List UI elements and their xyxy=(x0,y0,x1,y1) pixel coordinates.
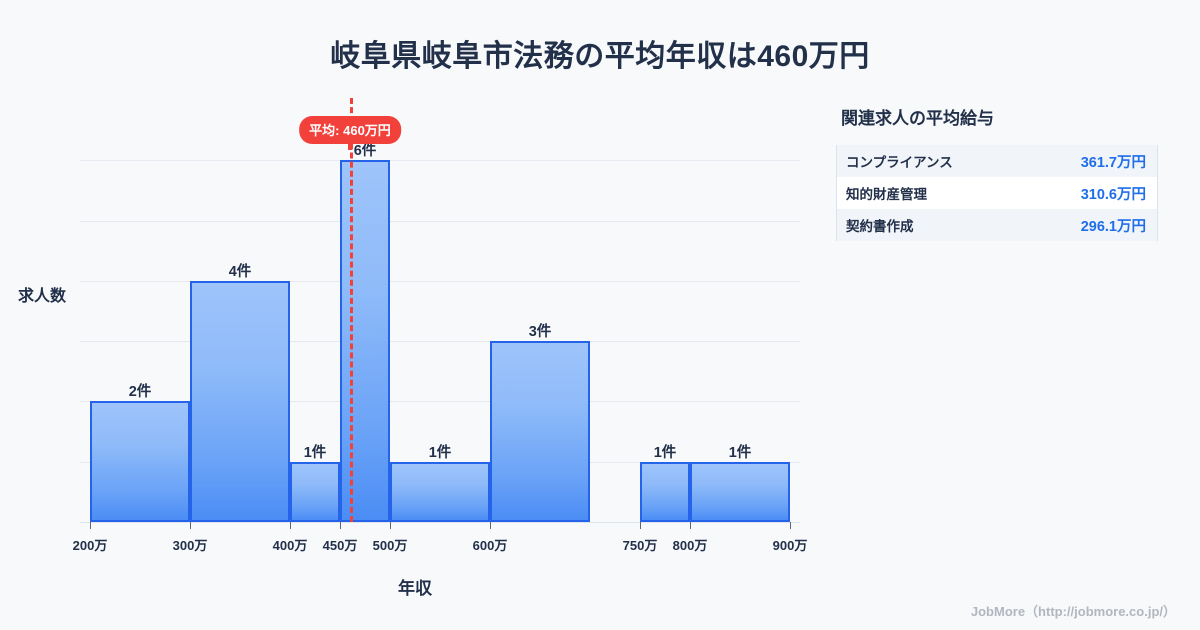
x-axis-tick xyxy=(640,522,641,529)
bar-value-label: 1件 xyxy=(690,441,790,462)
axis-baseline xyxy=(80,522,800,523)
x-axis-tick xyxy=(390,522,391,529)
gridline xyxy=(80,160,800,161)
related-salary-label: 契約書作成 xyxy=(846,215,914,235)
y-axis-title: 求人数 xyxy=(18,282,66,306)
x-axis-title: 年収 xyxy=(0,574,830,599)
bar-value-label: 2件 xyxy=(90,380,190,401)
bar-value-label: 3件 xyxy=(490,320,590,341)
histogram-chart: 求人数 2件4件1件6件1件3件1件1件 200万300万400万450万500… xyxy=(0,90,830,630)
histogram-bar xyxy=(90,401,190,522)
related-salary-label: 知的財産管理 xyxy=(846,183,927,203)
related-salary-panel: 関連求人の平均給与 コンプライアンス361.7万円知的財産管理310.6万円契約… xyxy=(836,104,1176,241)
x-axis-tick-label: 400万 xyxy=(273,535,308,554)
table-row[interactable]: 契約書作成296.1万円 xyxy=(837,209,1157,241)
table-row[interactable]: コンプライアンス361.7万円 xyxy=(837,145,1157,177)
x-axis-tick xyxy=(340,522,341,529)
related-salary-label: コンプライアンス xyxy=(846,151,953,171)
histogram-bar xyxy=(340,160,390,522)
histogram-bar xyxy=(690,462,790,522)
x-axis-tick xyxy=(690,522,691,529)
bar-value-label: 1件 xyxy=(390,441,490,462)
histogram-bar xyxy=(490,341,590,522)
histogram-bar xyxy=(190,281,290,522)
footer-credit: JobMore（http://jobmore.co.jp/） xyxy=(971,601,1176,620)
x-axis-tick xyxy=(90,522,91,529)
x-axis-tick xyxy=(790,522,791,529)
related-salary-value: 361.7万円 xyxy=(1081,151,1146,172)
related-salary-value: 310.6万円 xyxy=(1081,183,1146,204)
plot-area: 2件4件1件6件1件3件1件1件 200万300万400万450万500万600… xyxy=(80,100,800,522)
bar-value-label: 4件 xyxy=(190,260,290,281)
x-axis-tick xyxy=(290,522,291,529)
gridline xyxy=(80,341,800,342)
related-salary-table: コンプライアンス361.7万円知的財産管理310.6万円契約書作成296.1万円 xyxy=(836,145,1158,241)
x-axis-tick-label: 300万 xyxy=(173,535,208,554)
bar-value-label: 1件 xyxy=(640,441,690,462)
x-axis-tick xyxy=(190,522,191,529)
x-axis-tick-label: 900万 xyxy=(773,535,808,554)
average-dashed-line xyxy=(350,98,353,522)
x-axis-tick-label: 750万 xyxy=(623,535,658,554)
x-axis-tick xyxy=(490,522,491,529)
table-row[interactable]: 知的財産管理310.6万円 xyxy=(837,177,1157,209)
x-axis-tick-label: 200万 xyxy=(73,535,108,554)
related-salary-title: 関連求人の平均給与 xyxy=(836,104,1176,129)
histogram-bar xyxy=(390,462,490,522)
histogram-bar xyxy=(640,462,690,522)
x-axis-tick-label: 500万 xyxy=(373,535,408,554)
related-salary-value: 296.1万円 xyxy=(1081,215,1146,236)
gridline xyxy=(80,221,800,222)
x-axis-tick-label: 450万 xyxy=(323,535,358,554)
average-badge: 平均: 460万円 xyxy=(299,116,401,144)
x-axis-tick-label: 800万 xyxy=(673,535,708,554)
bar-value-label: 1件 xyxy=(290,441,340,462)
histogram-bar xyxy=(290,462,340,522)
gridline xyxy=(80,281,800,282)
x-axis-tick-label: 600万 xyxy=(473,535,508,554)
page-title: 岐阜県岐阜市法務の平均年収は460万円 xyxy=(0,31,1200,75)
